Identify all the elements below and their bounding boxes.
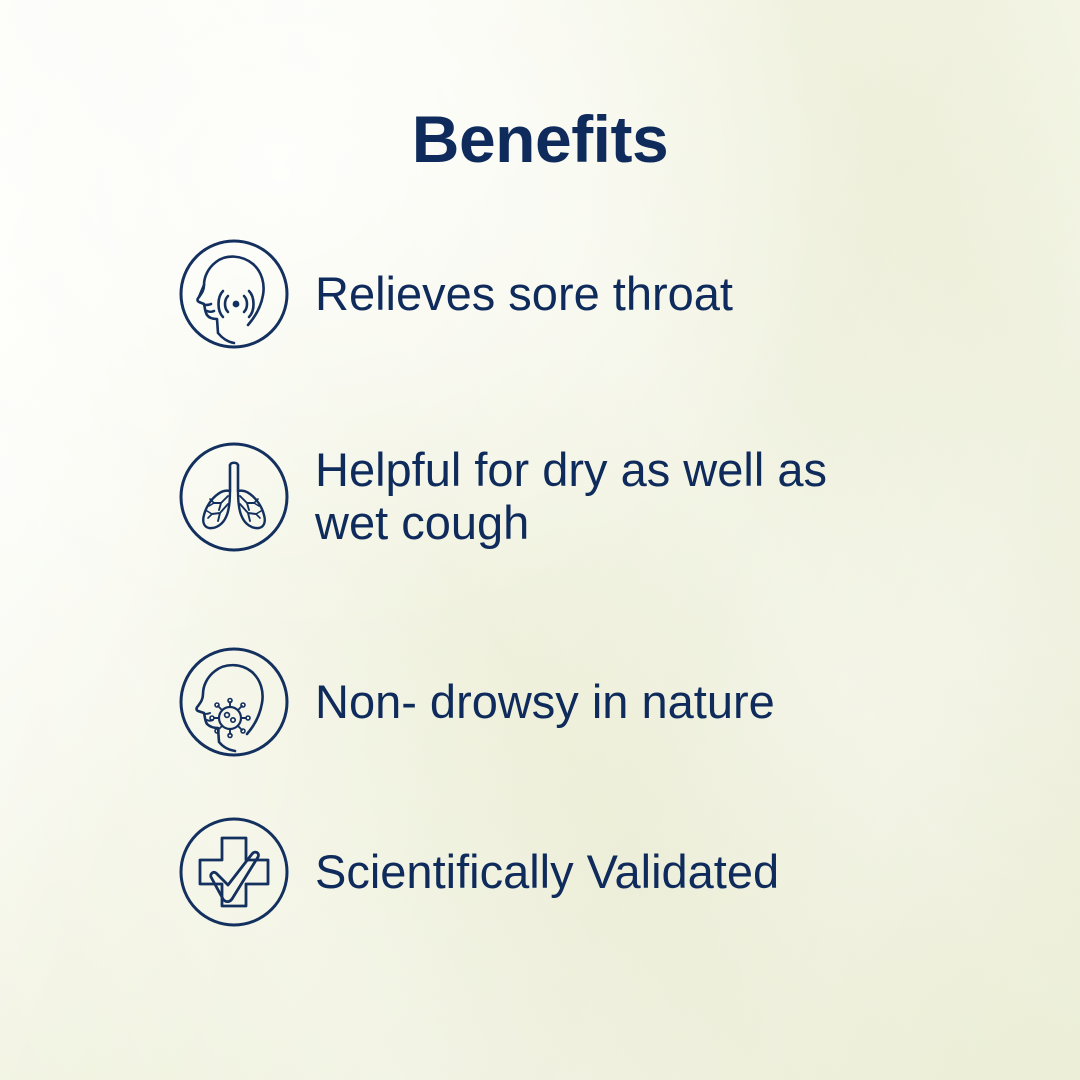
benefit-item-cough: Helpful for dry as well as wet cough: [178, 441, 827, 553]
lungs-icon: [178, 441, 290, 553]
benefit-label: Non- drowsy in nature: [315, 676, 775, 729]
benefit-item-validated: Scientifically Validated: [178, 816, 779, 928]
benefit-item-non-drowsy: Non- drowsy in nature: [178, 646, 775, 758]
benefit-label: Scientifically Validated: [315, 846, 779, 899]
medical-cross-check-icon: [178, 816, 290, 928]
benefits-poster: Benefits: [0, 0, 1080, 1080]
benefit-item-sore-throat: Relieves sore throat: [178, 238, 733, 350]
benefit-label: Relieves sore throat: [315, 268, 733, 321]
head-sore-throat-icon: [178, 238, 290, 350]
benefit-label: Helpful for dry as well as wet cough: [315, 444, 827, 549]
head-virus-icon: [178, 646, 290, 758]
page-title: Benefits: [0, 106, 1080, 172]
